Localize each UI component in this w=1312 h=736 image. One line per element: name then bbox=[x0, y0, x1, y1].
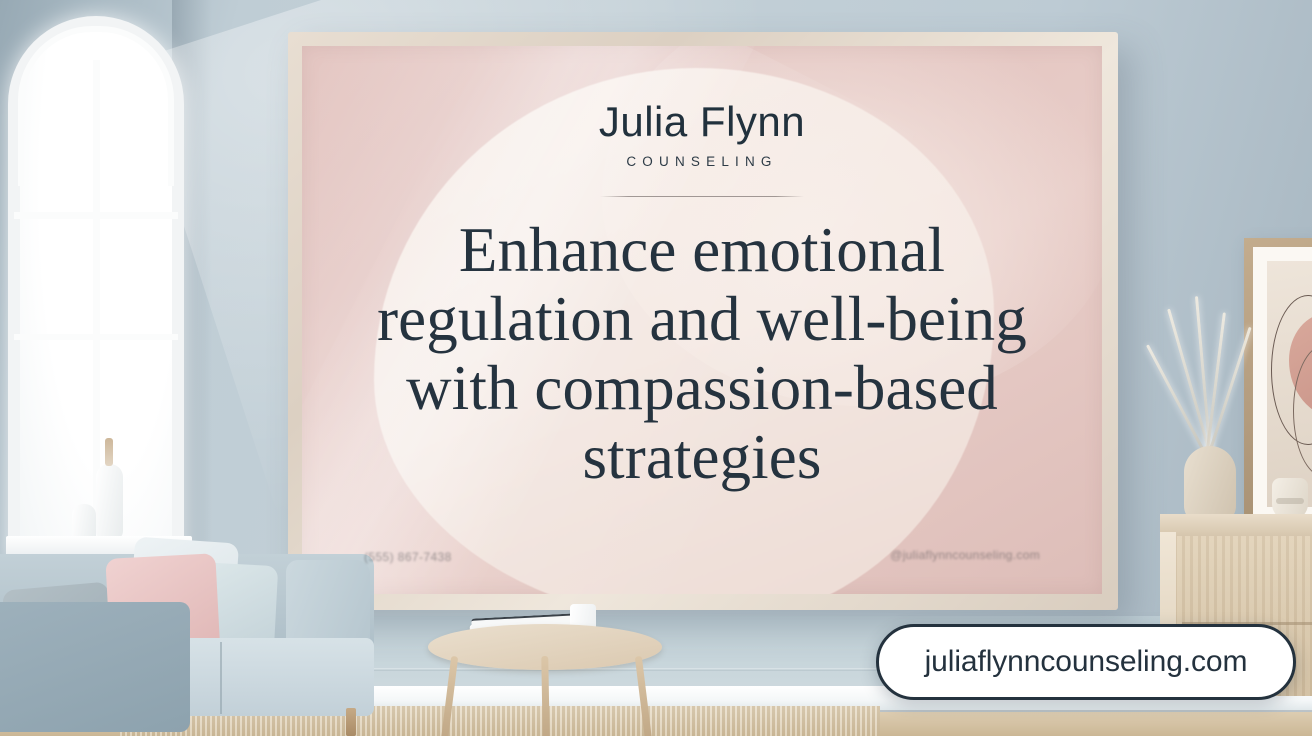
brand-subtitle: COUNSELING bbox=[302, 154, 1102, 169]
pampas-grass bbox=[1154, 298, 1282, 458]
website-url-label: juliaflynncounseling.com bbox=[925, 645, 1248, 679]
poster-content: Julia Flynn COUNSELING Enhance emotional… bbox=[302, 46, 1102, 594]
table-leg-center bbox=[541, 656, 549, 736]
sofa-leg-right bbox=[346, 708, 356, 736]
framed-poster: Julia Flynn COUNSELING Enhance emotional… bbox=[288, 32, 1118, 610]
poster-handle-text: @juliaflynncounseling.com bbox=[890, 548, 1040, 562]
brand-name: Julia Flynn bbox=[302, 98, 1102, 146]
website-url-badge[interactable]: juliaflynncounseling.com bbox=[876, 624, 1296, 700]
poster-canvas: Julia Flynn COUNSELING Enhance emotional… bbox=[302, 46, 1102, 594]
coffee-table bbox=[428, 616, 662, 736]
sideboard-top bbox=[1160, 514, 1312, 536]
window-mullion-horizontal-2 bbox=[14, 334, 178, 340]
pampas-stem-5 bbox=[1146, 344, 1205, 451]
room-scene: Julia Flynn COUNSELING Enhance emotional… bbox=[0, 0, 1312, 736]
poster-phone-text: (555) 867-7438 bbox=[364, 550, 452, 564]
brand-divider-rule bbox=[600, 196, 804, 197]
window-mullion-horizontal-1 bbox=[14, 212, 178, 219]
table-leg-left bbox=[441, 656, 458, 736]
ceramic-vase bbox=[1184, 446, 1236, 524]
sofa-arm-left bbox=[0, 602, 190, 732]
poster-headline: Enhance emotional regulation and well-be… bbox=[326, 216, 1078, 492]
arched-window bbox=[8, 16, 184, 564]
table-leg-right bbox=[635, 656, 652, 736]
sofa-cushion-seam bbox=[220, 642, 222, 714]
